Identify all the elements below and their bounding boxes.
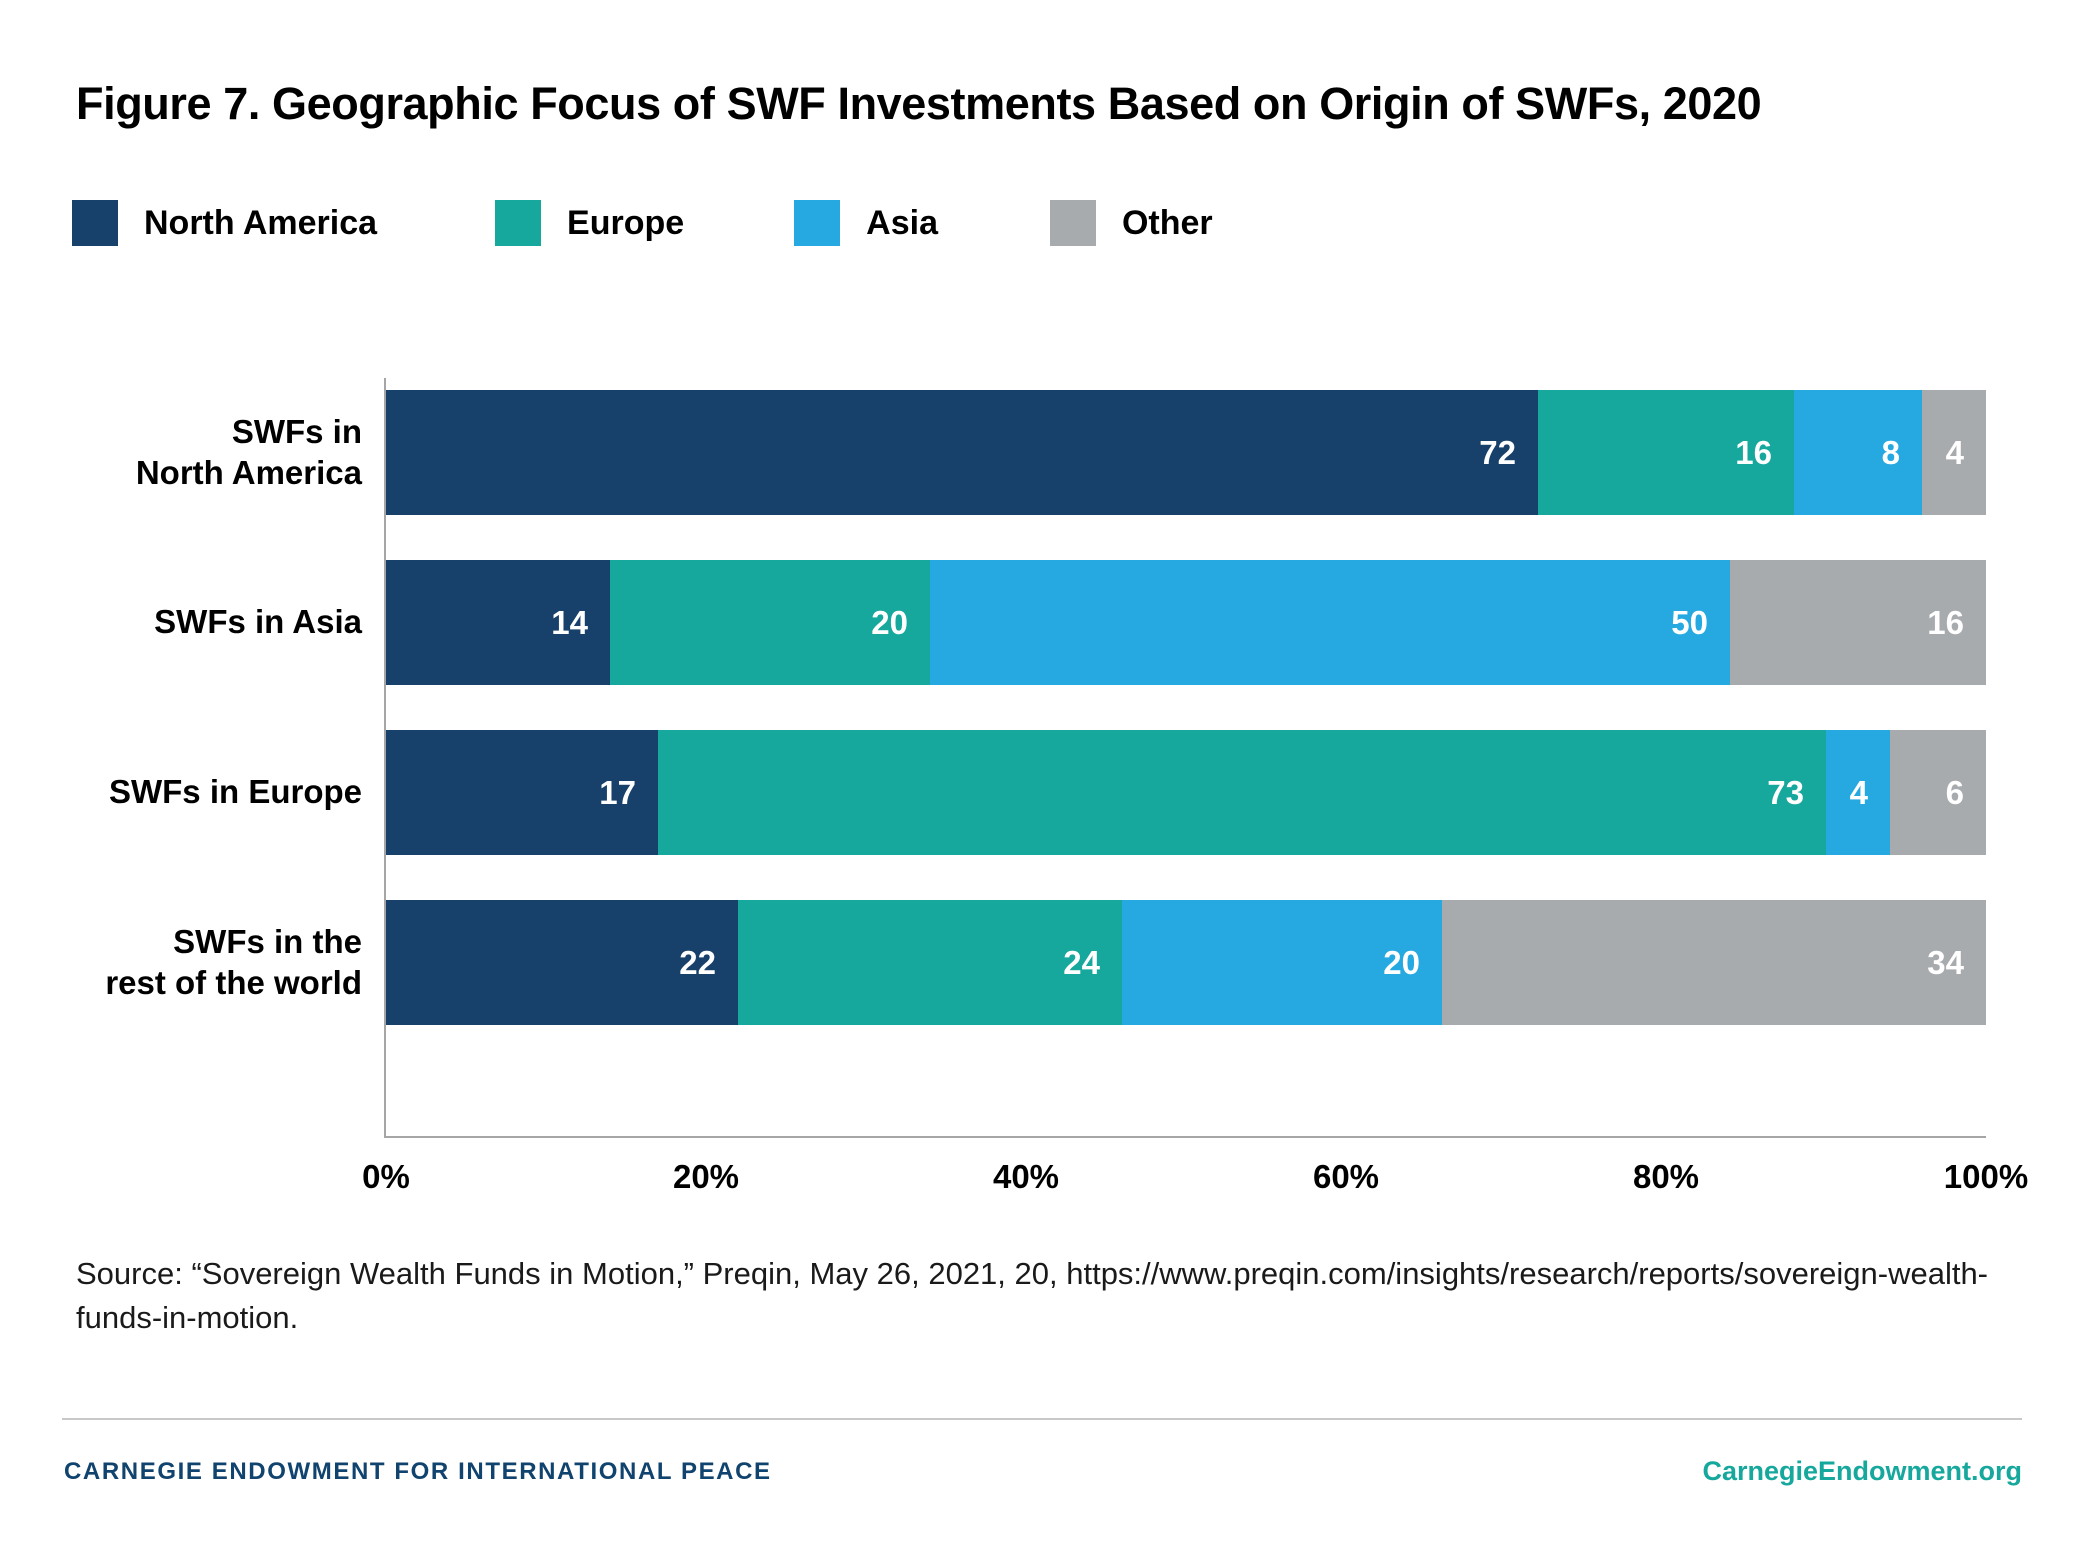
stacked-bar: 721684 xyxy=(386,390,1986,515)
legend-item-other: Other xyxy=(1050,200,1213,246)
legend-item-label: Asia xyxy=(866,204,938,243)
bar-value-label: 24 xyxy=(1063,944,1100,982)
category-label-line: SWFs in the xyxy=(173,922,362,962)
bar-segment-north-america: 17 xyxy=(386,730,658,855)
page-title: Figure 7. Geographic Focus of SWF Invest… xyxy=(76,78,1761,130)
bar-value-label: 6 xyxy=(1946,774,1964,812)
x-axis-tick-label: 20% xyxy=(673,1158,739,1196)
footer-organization: CARNEGIE ENDOWMENT FOR INTERNATIONAL PEA… xyxy=(64,1458,772,1486)
bar-value-label: 72 xyxy=(1479,434,1516,472)
category-label: SWFs inNorth America xyxy=(0,390,362,515)
legend-swatch-icon xyxy=(72,200,118,246)
bar-segment-asia: 8 xyxy=(1794,390,1922,515)
stacked-bar: 177346 xyxy=(386,730,1986,855)
source-note: Source: “Sovereign Wealth Funds in Motio… xyxy=(76,1252,2016,1340)
legend-item-label: Europe xyxy=(567,204,684,243)
category-label-line: SWFs in Asia xyxy=(154,602,362,642)
bar-segment-asia: 50 xyxy=(930,560,1730,685)
category-label: SWFs in Europe xyxy=(0,730,362,855)
legend-item-north-america: North America xyxy=(72,200,377,246)
category-label: SWFs in Asia xyxy=(0,560,362,685)
footer-website[interactable]: CarnegieEndowment.org xyxy=(1702,1456,2022,1487)
legend-item-asia: Asia xyxy=(794,200,938,246)
stacked-bar: 22242034 xyxy=(386,900,1986,1025)
x-axis-tick-label: 100% xyxy=(1944,1158,2028,1196)
category-label-line: SWFs in xyxy=(232,412,362,452)
category-label-line: SWFs in Europe xyxy=(109,772,362,812)
bar-value-label: 34 xyxy=(1927,944,1964,982)
bar-segment-europe: 20 xyxy=(610,560,930,685)
legend-swatch-icon xyxy=(495,200,541,246)
chart-row: SWFs in Europe177346 xyxy=(0,730,2084,855)
chart-row: SWFs in therest of the world22242034 xyxy=(0,900,2084,1025)
chart-row: SWFs inNorth America721684 xyxy=(0,390,2084,515)
legend-item-label: North America xyxy=(144,204,377,243)
x-axis-tick-label: 60% xyxy=(1313,1158,1379,1196)
category-label: SWFs in therest of the world xyxy=(0,900,362,1025)
bar-value-label: 14 xyxy=(551,604,588,642)
bar-value-label: 50 xyxy=(1671,604,1708,642)
bar-value-label: 17 xyxy=(599,774,636,812)
bar-segment-other: 34 xyxy=(1442,900,1986,1025)
bar-value-label: 73 xyxy=(1767,774,1804,812)
bar-value-label: 22 xyxy=(679,944,716,982)
legend-item-label: Other xyxy=(1122,204,1213,243)
stacked-bar-chart: SWFs inNorth America721684SWFs in Asia14… xyxy=(0,370,2084,1170)
bar-segment-asia: 4 xyxy=(1826,730,1890,855)
legend-item-europe: Europe xyxy=(495,200,684,246)
legend-swatch-icon xyxy=(1050,200,1096,246)
bar-segment-north-america: 22 xyxy=(386,900,738,1025)
bar-value-label: 4 xyxy=(1946,434,1964,472)
bar-segment-europe: 73 xyxy=(658,730,1826,855)
category-label-line: rest of the world xyxy=(105,963,362,1003)
chart-row: SWFs in Asia14205016 xyxy=(0,560,2084,685)
bar-value-label: 16 xyxy=(1735,434,1772,472)
bar-value-label: 20 xyxy=(1383,944,1420,982)
x-axis-tick-label: 80% xyxy=(1633,1158,1699,1196)
bar-value-label: 8 xyxy=(1882,434,1900,472)
bar-segment-north-america: 72 xyxy=(386,390,1538,515)
x-axis-tick-labels: 0%20%40%60%80%100% xyxy=(0,1158,2084,1202)
x-axis-line xyxy=(384,1136,1986,1138)
bar-segment-north-america: 14 xyxy=(386,560,610,685)
x-axis-tick-label: 0% xyxy=(362,1158,410,1196)
category-label-line: North America xyxy=(136,453,362,493)
bar-value-label: 16 xyxy=(1927,604,1964,642)
bar-value-label: 4 xyxy=(1850,774,1868,812)
bar-segment-europe: 24 xyxy=(738,900,1122,1025)
x-axis-tick-label: 40% xyxy=(993,1158,1059,1196)
bar-segment-asia: 20 xyxy=(1122,900,1442,1025)
bar-segment-other: 16 xyxy=(1730,560,1986,685)
stacked-bar: 14205016 xyxy=(386,560,1986,685)
footer-divider xyxy=(62,1418,2022,1420)
bar-value-label: 20 xyxy=(871,604,908,642)
legend-swatch-icon xyxy=(794,200,840,246)
bar-segment-europe: 16 xyxy=(1538,390,1794,515)
bar-segment-other: 6 xyxy=(1890,730,1986,855)
chart-legend: North AmericaEuropeAsiaOther xyxy=(72,200,1213,246)
bar-segment-other: 4 xyxy=(1922,390,1986,515)
